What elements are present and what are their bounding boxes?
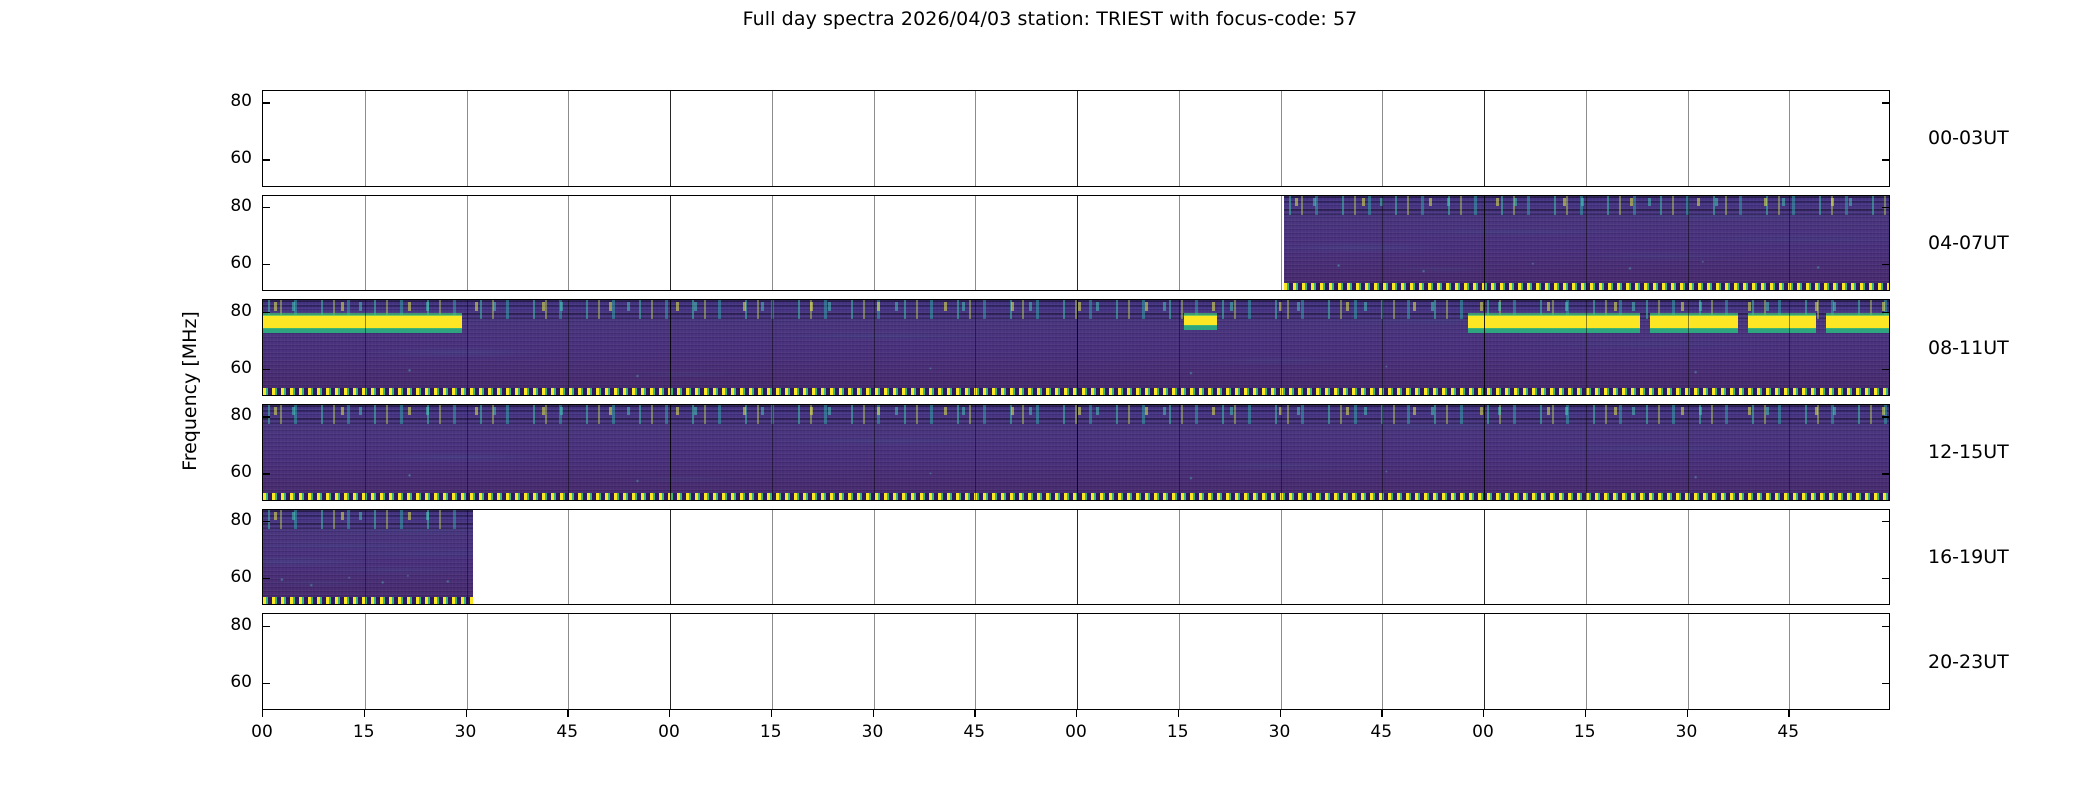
y-tick-label-group: 8060 — [200, 195, 252, 292]
gridline — [874, 510, 875, 605]
gridline — [1484, 91, 1485, 186]
gridline — [1789, 510, 1790, 605]
y-tick-label-group: 8060 — [200, 404, 252, 501]
gridline — [1484, 510, 1485, 605]
emission-band-upper-edge — [263, 313, 462, 316]
gridline — [568, 91, 569, 186]
y-tick-label: 80 — [230, 196, 252, 216]
y-tick — [263, 626, 270, 627]
spectrogram-panel-08-11ut — [262, 299, 1890, 396]
x-tick — [567, 710, 568, 717]
spectrogram-data-16-19ut — [263, 510, 473, 605]
x-tick — [262, 710, 263, 717]
x-tick-label: 15 — [1148, 722, 1208, 742]
x-tick-label: 45 — [1351, 722, 1411, 742]
gridline — [670, 91, 671, 186]
y-tick-label: 60 — [230, 253, 252, 273]
spectrogram-calib-layer — [263, 493, 1890, 500]
gridline — [1382, 510, 1383, 605]
gridline — [772, 91, 773, 186]
y-tick-marks — [263, 91, 1889, 186]
emission-band-core — [1826, 315, 1890, 329]
spectrogram-calib-layer — [263, 597, 473, 604]
panel-time-label-04-07ut: 04-07UT — [1928, 232, 2009, 254]
x-tick — [466, 710, 467, 717]
x-tick — [974, 710, 975, 717]
x-tick-label: 15 — [741, 722, 801, 742]
gridline — [975, 196, 976, 291]
gridline — [365, 91, 366, 186]
vertical-gridlines — [263, 510, 1889, 605]
gridline — [1688, 510, 1689, 605]
x-tick-label: 45 — [944, 722, 1004, 742]
y-tick-marks — [263, 510, 1889, 605]
spectrogram-figure: Full day spectra 2026/04/03 station: TRI… — [0, 0, 2100, 800]
y-tick — [1882, 159, 1889, 160]
gridline — [1077, 614, 1078, 709]
gridline — [568, 196, 569, 291]
emission-band-core — [263, 315, 462, 329]
emission-band-core — [1468, 315, 1641, 329]
emission-band-upper-edge — [1650, 313, 1738, 316]
gridline — [1586, 91, 1587, 186]
x-tick — [1178, 710, 1179, 717]
emission-band-lower-edge — [1748, 328, 1816, 333]
gridline — [1281, 614, 1282, 709]
spectrogram-calib-layer — [1284, 283, 1890, 290]
emission-band-lower-edge — [1826, 328, 1890, 333]
x-tick — [669, 710, 670, 717]
emission-band-core — [1748, 315, 1816, 329]
gridline — [670, 510, 671, 605]
gridline — [772, 510, 773, 605]
panel-time-label-08-11ut: 08-11UT — [1928, 337, 2009, 359]
y-tick-label: 60 — [230, 148, 252, 168]
emission-band — [1650, 315, 1738, 329]
gridline — [1179, 510, 1180, 605]
vertical-gridlines — [263, 91, 1889, 186]
x-tick — [771, 710, 772, 717]
y-tick — [1882, 578, 1889, 579]
gridline — [1382, 91, 1383, 186]
emission-band — [1468, 315, 1641, 329]
panel-time-label-00-03ut: 00-03UT — [1928, 127, 2009, 149]
figure-title: Full day spectra 2026/04/03 station: TRI… — [0, 8, 2100, 30]
gridline — [1688, 91, 1689, 186]
x-tick — [364, 710, 365, 717]
gridline — [1586, 510, 1587, 605]
y-tick — [1882, 521, 1889, 522]
panel-time-label-20-23ut: 20-23UT — [1928, 651, 2009, 673]
y-tick-label: 60 — [230, 462, 252, 482]
spectrogram-panel-20-23ut — [262, 613, 1890, 710]
gridline — [772, 196, 773, 291]
x-tick-label: 30 — [1657, 722, 1717, 742]
y-tick — [263, 207, 270, 208]
gridline — [874, 614, 875, 709]
spectrogram-calib-layer — [263, 388, 1890, 395]
emission-band — [1826, 315, 1890, 329]
spectrogram-sparkle-layer — [1284, 196, 1890, 291]
y-tick-label: 80 — [230, 510, 252, 530]
gridline — [1077, 510, 1078, 605]
emission-band-core — [1650, 315, 1738, 329]
y-tick-label: 80 — [230, 405, 252, 425]
y-tick-label: 80 — [230, 615, 252, 635]
y-tick-marks — [263, 614, 1889, 709]
x-tick-label: 30 — [436, 722, 496, 742]
spectrogram-panel-16-19ut — [262, 509, 1890, 606]
spectrogram-data-04-07ut — [1284, 196, 1890, 291]
y-tick-label: 60 — [230, 672, 252, 692]
x-tick-label: 30 — [843, 722, 903, 742]
gridline — [874, 91, 875, 186]
x-tick-label: 45 — [537, 722, 597, 742]
y-tick — [263, 264, 270, 265]
spectrogram-panel-12-15ut — [262, 404, 1890, 501]
x-tick-label: 00 — [232, 722, 292, 742]
gridline — [568, 510, 569, 605]
y-tick-label: 60 — [230, 358, 252, 378]
spectrogram-sparkle-layer — [263, 405, 1890, 500]
gridline — [1281, 196, 1282, 291]
gridline — [1179, 196, 1180, 291]
y-tick-label-group: 8060 — [200, 613, 252, 710]
y-tick-label-group: 8060 — [200, 90, 252, 187]
gridline — [467, 91, 468, 186]
vertical-gridlines — [263, 614, 1889, 709]
x-tick — [1076, 710, 1077, 717]
gridline — [1484, 614, 1485, 709]
y-tick — [1882, 683, 1889, 684]
gridline — [1688, 614, 1689, 709]
y-axis-label: Frequency [MHz] — [150, 0, 190, 800]
y-tick-label: 80 — [230, 91, 252, 111]
gridline — [874, 196, 875, 291]
spectrogram-panel-00-03ut — [262, 90, 1890, 187]
emission-band — [263, 315, 462, 329]
gridline — [670, 196, 671, 291]
emission-band — [1748, 315, 1816, 329]
x-tick-label: 00 — [1046, 722, 1106, 742]
gridline — [1179, 91, 1180, 186]
gridline — [975, 614, 976, 709]
panel-time-label-12-15ut: 12-15UT — [1928, 441, 2009, 463]
y-tick-label-group: 8060 — [200, 509, 252, 606]
emission-band — [1184, 315, 1217, 326]
spectrogram-sparkle-layer — [263, 510, 473, 605]
x-tick — [1788, 710, 1789, 717]
y-tick — [1882, 102, 1889, 103]
x-tick-label: 00 — [1453, 722, 1513, 742]
gridline — [1789, 614, 1790, 709]
panel-time-label-16-19ut: 16-19UT — [1928, 546, 2009, 568]
x-tick-label: 45 — [1758, 722, 1818, 742]
y-tick-label-group: 8060 — [200, 299, 252, 396]
x-tick — [1381, 710, 1382, 717]
gridline — [1077, 196, 1078, 291]
x-tick — [1687, 710, 1688, 717]
spectrogram-data-12-15ut — [263, 405, 1890, 500]
gridline — [467, 196, 468, 291]
emission-band-upper-edge — [1184, 313, 1217, 316]
x-tick-label: 15 — [1555, 722, 1615, 742]
emission-band-lower-edge — [1184, 325, 1217, 330]
gridline — [1281, 510, 1282, 605]
y-tick-label: 80 — [230, 301, 252, 321]
emission-band-upper-edge — [1468, 313, 1641, 316]
gridline — [1382, 614, 1383, 709]
x-tick — [1585, 710, 1586, 717]
emission-band-upper-edge — [1748, 313, 1816, 316]
y-tick-label: 60 — [230, 567, 252, 587]
y-tick — [263, 159, 270, 160]
spectrogram-sparkle-layer — [263, 300, 1890, 395]
x-tick-label: 00 — [639, 722, 699, 742]
gridline — [365, 196, 366, 291]
gridline — [568, 614, 569, 709]
spectrogram-data-08-11ut — [263, 300, 1890, 395]
gridline — [1077, 91, 1078, 186]
gridline — [975, 91, 976, 186]
y-tick — [263, 102, 270, 103]
x-tick-label: 15 — [334, 722, 394, 742]
gridline — [975, 510, 976, 605]
gridline — [670, 614, 671, 709]
emission-band-upper-edge — [1826, 313, 1890, 316]
emission-band-lower-edge — [263, 328, 462, 333]
gridline — [1179, 614, 1180, 709]
gridline — [467, 614, 468, 709]
emission-band-lower-edge — [1650, 328, 1738, 333]
emission-band-lower-edge — [1468, 328, 1641, 333]
gridline — [365, 614, 366, 709]
x-tick-label: 30 — [1250, 722, 1310, 742]
x-tick — [1483, 710, 1484, 717]
y-tick — [1882, 626, 1889, 627]
gridline — [772, 614, 773, 709]
gridline — [1586, 614, 1587, 709]
y-tick — [263, 683, 270, 684]
gridline — [1789, 91, 1790, 186]
y-axis-label-text: Frequency [MHz] — [179, 251, 201, 531]
gridline — [1281, 91, 1282, 186]
x-tick — [873, 710, 874, 717]
x-tick — [1280, 710, 1281, 717]
spectrogram-panel-04-07ut — [262, 195, 1890, 292]
